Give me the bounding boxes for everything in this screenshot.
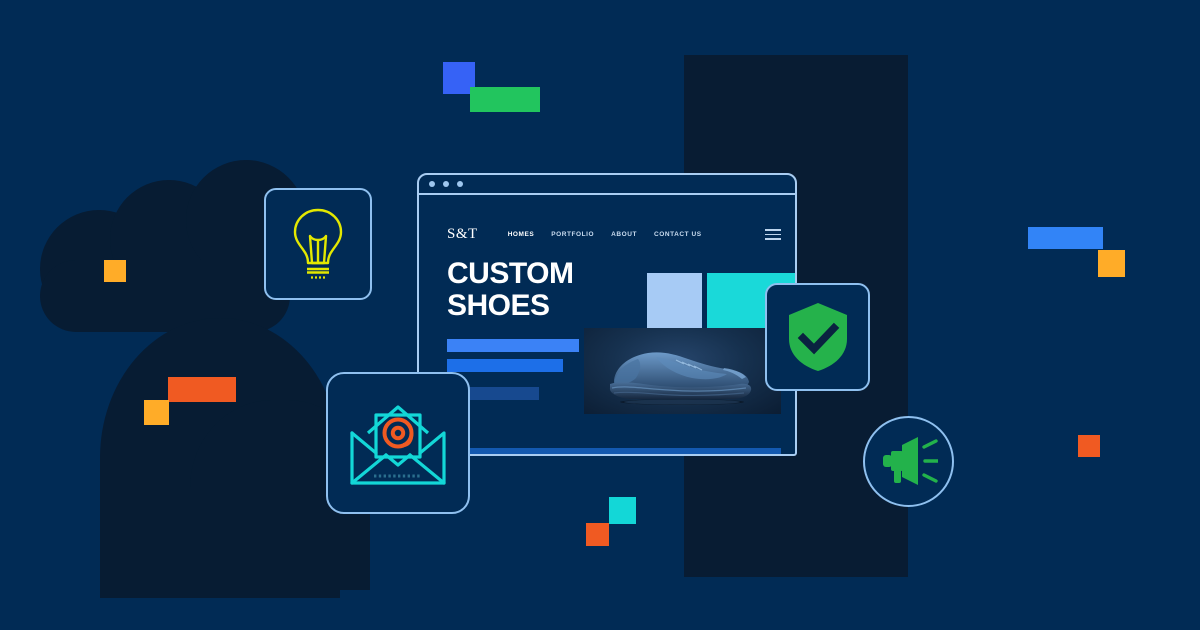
- light-blue-swatch: [647, 273, 702, 331]
- window-dot-minimize-icon[interactable]: [443, 181, 449, 187]
- megaphone-icon: [880, 437, 938, 487]
- window-dot-maximize-icon[interactable]: [457, 181, 463, 187]
- headline-line-2: SHOES: [447, 290, 573, 322]
- amber-square-left: [104, 260, 126, 282]
- idea-card[interactable]: [264, 188, 372, 300]
- nav-item-homes[interactable]: HOMES: [508, 231, 535, 238]
- text-placeholder-bar-2: [447, 359, 563, 372]
- email-card[interactable]: [326, 372, 470, 514]
- amber-square-left-2: [144, 400, 169, 425]
- blue-rect-right: [1028, 227, 1103, 249]
- nav-item-about[interactable]: ABOUT: [611, 231, 637, 238]
- nav-item-contact-us[interactable]: CONTACT US: [654, 231, 702, 238]
- orange-rect-left: [168, 377, 236, 402]
- cyan-square-bottom: [609, 497, 636, 524]
- security-card[interactable]: [765, 283, 870, 391]
- window-dot-close-icon[interactable]: [429, 181, 435, 187]
- envelope-at-icon: [346, 397, 450, 489]
- page-title: CUSTOM SHOES: [447, 258, 573, 321]
- orange-square-bottom: [586, 523, 609, 546]
- browser-title-bar: [419, 175, 795, 195]
- marketing-badge[interactable]: [863, 416, 954, 507]
- site-navbar: S&T HOMES PORTFOLIO ABOUT CONTACT US: [419, 221, 795, 247]
- amber-square-right: [1098, 250, 1125, 277]
- green-rect-top: [470, 87, 540, 112]
- cta-banner-bar[interactable]: [447, 448, 781, 456]
- nav-item-portfolio[interactable]: PORTFOLIO: [551, 231, 594, 238]
- hero-product-image: [584, 328, 781, 414]
- shield-check-icon: [787, 301, 849, 373]
- headline-line-1: CUSTOM: [447, 258, 573, 290]
- orange-square-right: [1078, 435, 1100, 457]
- browser-viewport: S&T HOMES PORTFOLIO ABOUT CONTACT US CUS…: [419, 195, 795, 456]
- text-placeholder-bar-1: [447, 339, 579, 352]
- illustration-canvas: S&T HOMES PORTFOLIO ABOUT CONTACT US CUS…: [0, 0, 1200, 630]
- browser-window-mockup: S&T HOMES PORTFOLIO ABOUT CONTACT US CUS…: [417, 173, 797, 456]
- blue-sneaker-illustration: [596, 340, 772, 406]
- hamburger-menu-icon[interactable]: [765, 229, 781, 240]
- lightbulb-icon: [288, 206, 348, 282]
- site-logo[interactable]: S&T: [447, 226, 478, 243]
- nav-links: HOMES PORTFOLIO ABOUT CONTACT US: [508, 231, 702, 238]
